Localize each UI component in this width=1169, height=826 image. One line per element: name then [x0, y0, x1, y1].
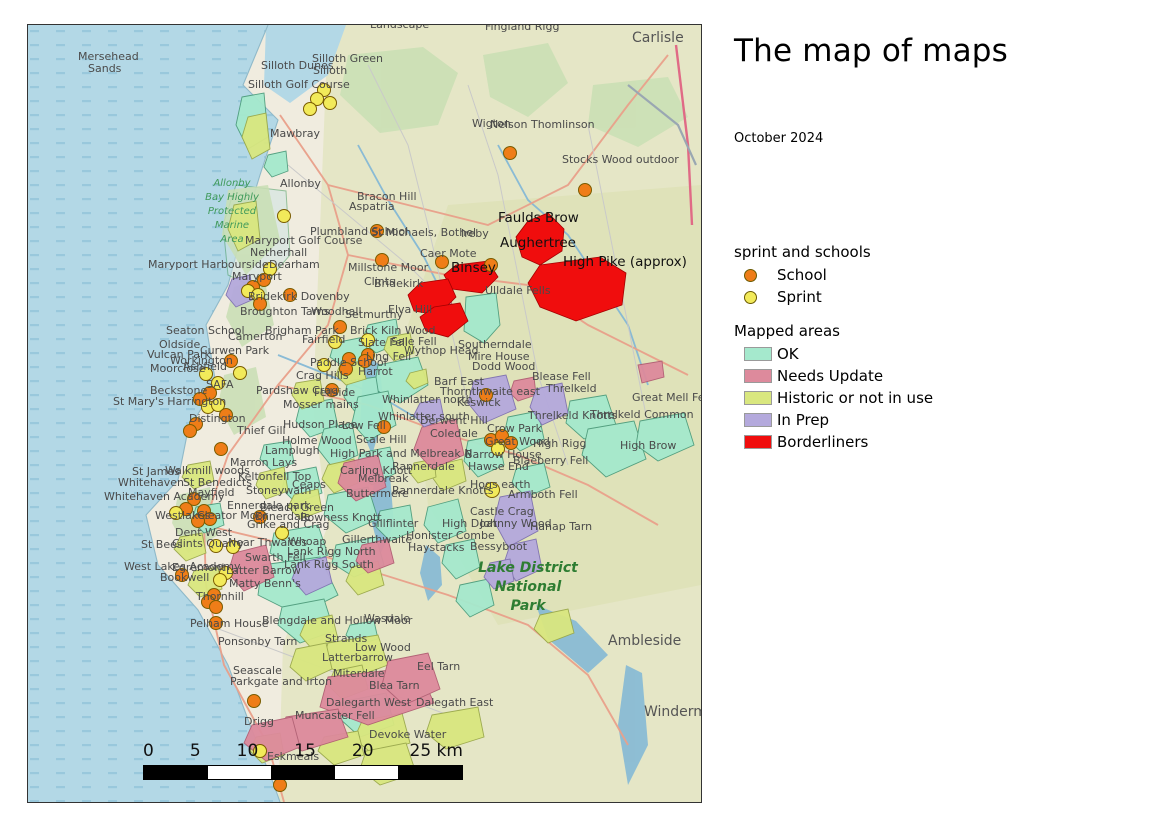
- map-label: High Park and Melbreak N: [330, 447, 472, 460]
- map-label: Faulds Brow: [498, 210, 579, 226]
- map-label: Park: [510, 598, 547, 614]
- legend-area-swatch: [744, 391, 772, 405]
- map-label: Crow Park: [487, 422, 543, 435]
- legend-point-row: Sprint: [744, 286, 1064, 308]
- map-label: Bay Highly: [205, 192, 260, 203]
- map-label: Bookwell: [160, 571, 209, 584]
- legend-area-row: Historic or not in use: [744, 387, 1064, 409]
- map-label: Matty Benn's: [229, 577, 301, 590]
- map-panel[interactable]: Fingland RiggLandscapeMerseheadSandsSill…: [27, 24, 702, 803]
- legend-point-row: School: [744, 264, 1064, 286]
- map-label: Coledale: [430, 427, 478, 440]
- legend-points-heading: sprint and schools: [734, 243, 1064, 261]
- scale-tick: 25 km: [410, 741, 463, 761]
- legend-area-row: OK: [744, 343, 1064, 365]
- map-label: Maryport: [232, 270, 282, 283]
- legend-area-swatch: [744, 413, 772, 427]
- map-label: Latterbarrow: [322, 651, 393, 664]
- map-label: Lake District: [478, 560, 579, 576]
- map-label: Pelham House: [190, 617, 269, 630]
- map-label: Ashfield: [183, 360, 227, 373]
- map-label: Carlisle: [632, 30, 684, 46]
- map-label: Whitehaven: [118, 476, 184, 489]
- map-label: Keswick: [457, 396, 501, 409]
- circle-marker-icon: [744, 269, 757, 282]
- circle-marker-icon: [744, 291, 757, 304]
- legend-area-label: OK: [777, 345, 799, 363]
- info-panel: The map of maps October 2024 sprint and …: [720, 0, 1169, 826]
- map-label: Ponsonby Tarn: [218, 635, 297, 648]
- map-label: Thief Gill: [236, 424, 286, 437]
- map-label: Caer Mote: [420, 247, 477, 260]
- map-label: Blaeberry Fell: [513, 454, 588, 467]
- legend-area-label: Borderliners: [777, 433, 868, 451]
- map-label: Millstone Moor: [348, 261, 429, 274]
- map-label: Silloth Golf Course: [248, 78, 350, 91]
- legend-area-row: In Prep: [744, 409, 1064, 431]
- scale-seg: [144, 766, 208, 779]
- map-label: Protected: [208, 206, 257, 217]
- map-label: Allonby: [212, 178, 251, 189]
- map-label: Haystacks: [408, 541, 465, 554]
- map-label: Ambleside: [608, 633, 681, 649]
- map-label: Thornhill: [195, 590, 244, 603]
- map-label: Fairfield: [302, 333, 345, 346]
- map-label: Bridekirk Dovenby: [248, 290, 350, 303]
- legend-points-list: SchoolSprint: [734, 264, 1064, 308]
- map-label: Aughertree: [500, 235, 576, 251]
- legend: sprint and schools SchoolSprint Mapped a…: [734, 243, 1064, 453]
- legend-area-label: In Prep: [777, 411, 829, 429]
- map-label: Crag Hills: [296, 369, 349, 382]
- map-label: Drigg: [244, 715, 274, 728]
- map-label: Low Fell: [342, 419, 386, 432]
- map-label: Eel Tarn: [417, 660, 460, 673]
- map-label: Great Mell Fell: [632, 391, 701, 404]
- scale-tick: 20: [352, 741, 374, 761]
- map-label: Mayfield: [188, 486, 234, 499]
- map-canvas[interactable]: Fingland RiggLandscapeMerseheadSandsSill…: [28, 25, 701, 802]
- map-label: Fingland Rigg: [485, 25, 559, 33]
- scale-seg: [208, 766, 272, 779]
- map-label: Area: [219, 234, 243, 245]
- map-label: Camerton: [228, 330, 282, 343]
- map-label: SAFA: [206, 378, 234, 391]
- legend-area-row: Borderliners: [744, 431, 1064, 453]
- map-label: Mawbray: [270, 127, 320, 140]
- map-label: Dalegarth West: [326, 696, 412, 709]
- map-label: Clints: [364, 275, 395, 288]
- map-label: Harrot: [358, 365, 393, 378]
- map-label: Aspatria: [349, 200, 395, 213]
- map-label: Grike and Crag: [247, 518, 329, 531]
- map-label: Mosser mains: [283, 398, 359, 411]
- legend-area-swatch: [744, 435, 772, 449]
- map-label: Ireby: [461, 227, 489, 240]
- map-label: Silloth: [313, 64, 347, 77]
- map-label: Lank Rigg South: [284, 558, 374, 571]
- legend-area-label: Needs Update: [777, 367, 883, 385]
- scale-tick: 10: [237, 741, 259, 761]
- map-label: Landscape: [370, 25, 429, 31]
- page-date: October 2024: [734, 131, 823, 146]
- map-label: Scale Hill: [356, 433, 407, 446]
- map-label: Marine: [215, 220, 249, 231]
- map-label: Windermere: [644, 704, 701, 720]
- map-label: Muncaster Fell: [295, 709, 375, 722]
- legend-area-swatch: [744, 347, 772, 361]
- map-label: High Brow: [620, 439, 676, 452]
- scale-seg: [398, 766, 462, 779]
- map-label: Threlkeld Common: [589, 408, 694, 421]
- page-title: The map of maps: [734, 33, 1008, 69]
- map-label: Parkgate and Irton: [230, 675, 332, 688]
- map-label: Ulldale Fells: [485, 284, 551, 297]
- map-label: Sands: [88, 62, 122, 75]
- map-label: High Pike (approx): [563, 254, 687, 270]
- map-label: National: [495, 579, 562, 595]
- legend-point-label: School: [777, 266, 827, 284]
- map-label: Stocks Wood outdoor: [562, 153, 679, 166]
- map-label: Hanap Tarn: [530, 520, 592, 533]
- legend-areas-heading: Mapped areas: [734, 322, 1064, 340]
- legend-point-label: Sprint: [777, 288, 822, 306]
- map-label: Devoke Water: [369, 728, 447, 741]
- scale-tick: 0: [143, 741, 154, 761]
- map-label: Wasdale: [364, 612, 410, 625]
- map-label: Blea Tarn: [369, 679, 420, 692]
- scale-tick: 15: [294, 741, 316, 761]
- map-label: Ceaps: [292, 478, 326, 491]
- scale-seg: [271, 766, 335, 779]
- legend-areas-list: OKNeeds UpdateHistoric or not in useIn P…: [734, 343, 1064, 453]
- scale-seg: [335, 766, 399, 779]
- map-label: Allonby: [280, 177, 321, 190]
- map-label: Derwent Hill: [420, 414, 488, 427]
- map-label: Elva Hill: [388, 303, 432, 316]
- map-label: Dalegath East: [416, 696, 494, 709]
- legend-area-swatch: [744, 369, 772, 383]
- map-label: Wigton: [472, 117, 511, 130]
- map-label: Threlkeld: [545, 382, 597, 395]
- map-label: Bessyboot: [470, 540, 528, 553]
- map-label: Binsey: [451, 260, 496, 276]
- map-label: Dodd Wood: [472, 360, 535, 373]
- scale-tick: 5: [190, 741, 201, 761]
- legend-area-row: Needs Update: [744, 365, 1064, 387]
- map-label: Armboth Fell: [508, 488, 578, 501]
- legend-area-label: Historic or not in use: [777, 389, 933, 407]
- scale-bar: 0510152025 km: [143, 741, 463, 780]
- map-label: St Mary's Harrington: [113, 395, 226, 408]
